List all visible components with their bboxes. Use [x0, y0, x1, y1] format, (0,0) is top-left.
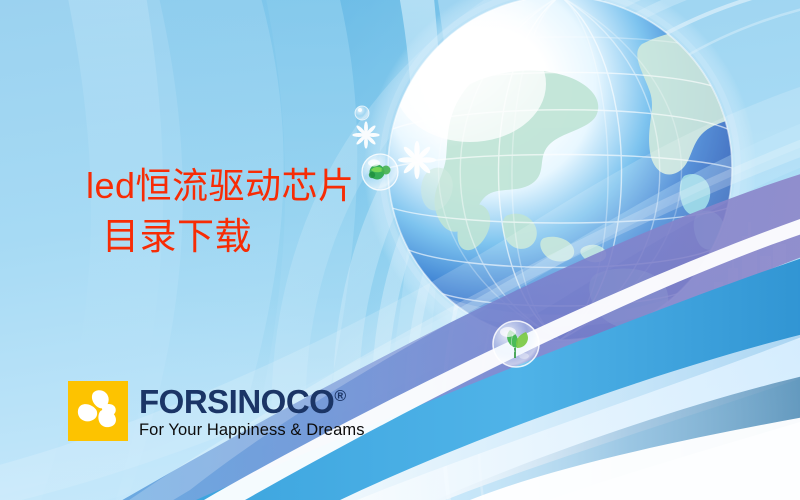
bubble-green-leaf [493, 321, 539, 367]
pinwheel-petals-icon [68, 381, 128, 441]
headline-line-2: 目录下载 [86, 210, 355, 264]
orbit-arcs [289, 0, 800, 500]
brand-name: FORSINOCO® [139, 381, 365, 418]
brand-name-text: FORSINOCO [139, 383, 334, 420]
brand-tagline: For Your Happiness & Dreams [139, 420, 365, 440]
bubble-green-globe [362, 154, 398, 190]
company-logo[interactable]: FORSINOCO® For Your Happiness & Dreams [68, 381, 365, 441]
green-leaf-icon [507, 330, 528, 358]
flower-icon [352, 121, 379, 148]
headline-line-1: led恒流驱动芯片 [86, 162, 355, 210]
logo-text-block: FORSINOCO® For Your Happiness & Dreams [139, 381, 365, 440]
bubble-small [355, 106, 369, 120]
flower-icon [398, 141, 436, 179]
green-globe-icon [369, 165, 391, 180]
continents [421, 11, 772, 342]
flower-decorations [352, 121, 436, 179]
promo-banner: led恒流驱动芯片 目录下载 FORSINOCO® For Your Happi… [0, 0, 800, 500]
pinwheel-petals-mark [68, 381, 128, 441]
bubble-decorations [355, 106, 539, 367]
earth-globe [364, 0, 772, 364]
city-skyline-silhouette [624, 222, 800, 340]
headline-block: led恒流驱动芯片 目录下载 [86, 162, 355, 264]
globe-grid [388, 0, 732, 340]
registered-trademark-icon: ® [334, 388, 346, 405]
